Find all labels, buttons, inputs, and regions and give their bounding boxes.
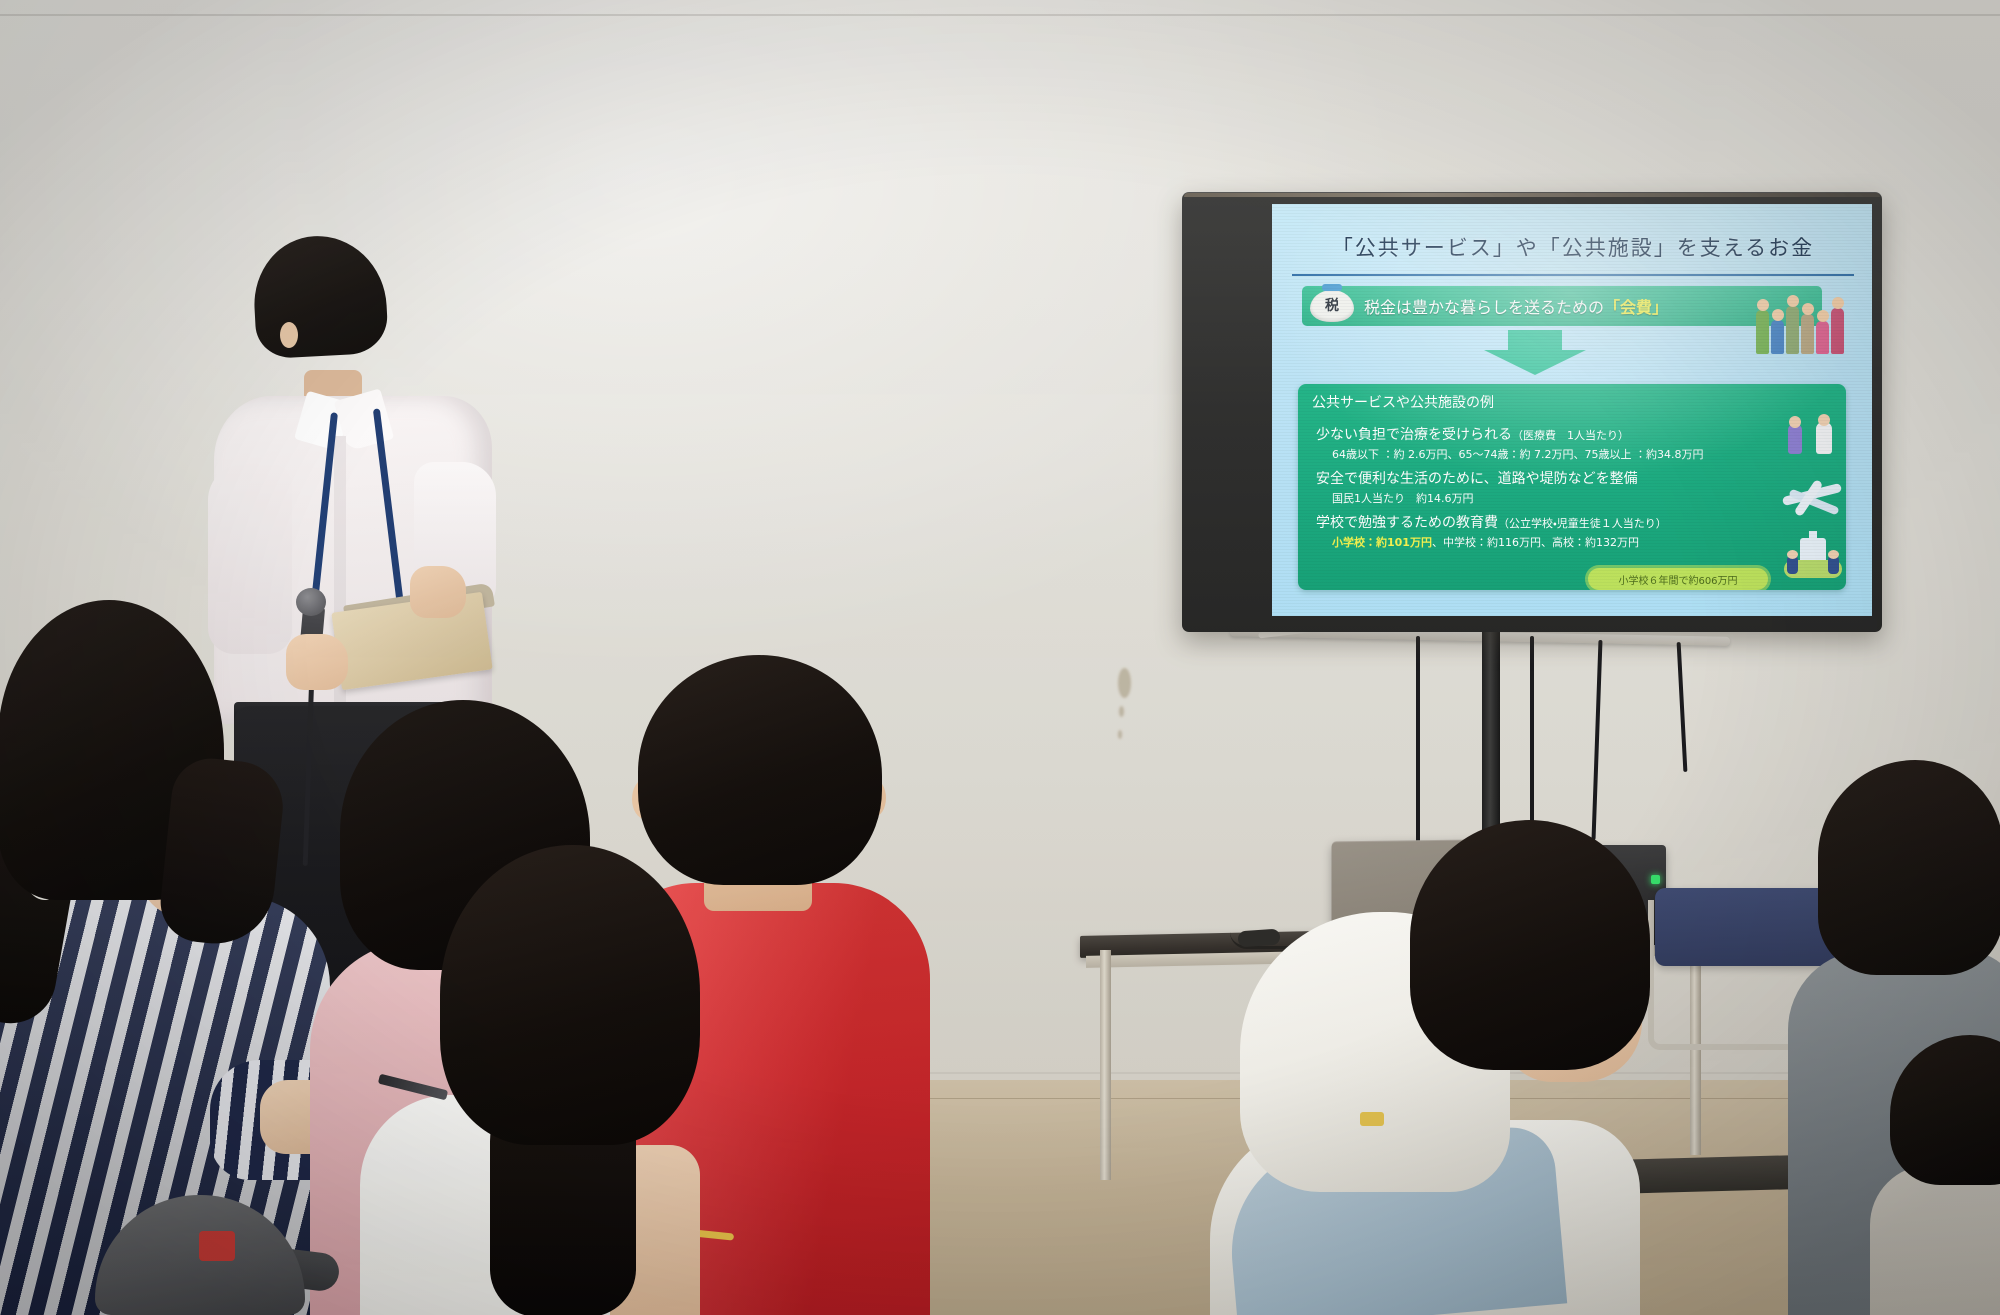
slide-title-rule — [1292, 274, 1854, 276]
item3-text: 学校で勉強するための教育費 — [1316, 515, 1498, 531]
wall-scuff-mark — [1118, 668, 1131, 698]
content-box-heading: 公共サービスや公共施設の例 — [1312, 392, 1494, 412]
wall-scuff-mark-small — [1119, 706, 1124, 717]
content-item-2-detail: 国民1人当たり 約14.6万円 — [1332, 490, 1474, 506]
presenter-hair — [251, 233, 389, 360]
monitor-top-highlight — [1184, 193, 1880, 197]
content-item-1-main: 少ない負担で治療を受けられる（医療費 1人当たり） — [1316, 424, 1629, 444]
student-far-right-lower — [1890, 1035, 2000, 1315]
family-clipart-icon — [1756, 282, 1866, 354]
content-item-3-detail: 小学校：約101万円、中学校：約116万円、高校：約132万円 — [1332, 534, 1639, 550]
student-boy-hoodie — [1240, 820, 1680, 1315]
student-hair — [1890, 1035, 2000, 1185]
money-bag-label: 税 — [1325, 299, 1339, 313]
wall-seam — [0, 14, 2000, 16]
family-figure — [1801, 314, 1814, 354]
banner-text-highlight: 「会費」 — [1604, 298, 1668, 317]
cap-emblem-icon — [199, 1231, 235, 1261]
slide-callout-text: 小学校６年間で約606万円 — [1618, 572, 1737, 587]
family-figure — [1786, 306, 1799, 354]
slide-banner-text: 税金は豊かな暮らしを送るための「会費」 — [1364, 294, 1668, 318]
content-item-3-main: 学校で勉強するための教育費（公立学校・児童生徒１人当たり） — [1316, 512, 1667, 532]
student-girl-white-shirt — [400, 845, 800, 1315]
slide-callout-badge: 小学校６年間で約606万円 — [1588, 568, 1768, 590]
student-with-cap — [95, 1195, 325, 1315]
hoodie-tab-detail — [1360, 1112, 1384, 1126]
classroom-photo: 「公共サービス」や「公共施設」を支えるお金 税 税金は豊かな暮らしを送るための「… — [0, 0, 2000, 1315]
family-figure — [1831, 308, 1844, 354]
item3-detail-highlight: 小学校：約101万円 — [1332, 536, 1432, 549]
slide-canvas: 「公共サービス」や「公共施設」を支えるお金 税 税金は豊かな暮らしを送るための「… — [1272, 204, 1872, 616]
hdmi-cable — [1530, 636, 1534, 848]
content-item-1-detail: 64歳以下 ：約 2.6万円、65〜74歳：約 7.2万円、75歳以上 ：約34… — [1332, 446, 1703, 462]
item3-detail-rest: 、中学校：約116万円、高校：約132万円 — [1432, 536, 1639, 549]
monitor-screen: 「公共サービス」や「公共施設」を支えるお金 税 税金は豊かな暮らしを送るための「… — [1272, 204, 1872, 616]
money-bag-icon: 税 — [1310, 290, 1354, 322]
presentation-monitor[interactable]: 「公共サービス」や「公共施設」を支えるお金 税 税金は豊かな暮らしを送るための「… — [1182, 192, 1882, 632]
slide-banner: 税 税金は豊かな暮らしを送るための「会費」 — [1302, 286, 1822, 326]
family-figure — [1756, 310, 1769, 354]
student-hair — [1818, 760, 2000, 975]
presenter-ear — [280, 322, 298, 348]
down-arrow-head — [1484, 350, 1586, 375]
family-figure — [1771, 320, 1784, 354]
doctor-patient-icon — [1786, 418, 1840, 460]
student-hair — [440, 845, 700, 1145]
banner-text-main: 税金は豊かな暮らしを送るための — [1364, 298, 1604, 317]
content-item-2-main: 安全で便利な生活のために、道路や堤防などを整備 — [1316, 468, 1638, 488]
presenter-hand-right — [410, 566, 466, 618]
wall-scuff-dot — [1118, 730, 1122, 739]
slide-content-box: 公共サービスや公共施設の例 少ない負担で治療を受けられる（医療費 1人当たり） … — [1298, 384, 1846, 590]
school-building-icon — [1782, 534, 1844, 582]
family-figure — [1816, 321, 1829, 354]
item1-text: 少ない負担で治療を受けられる — [1316, 427, 1512, 443]
down-arrow-stem — [1508, 330, 1562, 352]
student-hair — [1410, 820, 1650, 1070]
highway-interchange-icon — [1782, 476, 1844, 520]
item1-paren: （医療費 1人当たり） — [1512, 429, 1629, 442]
item3-paren: （公立学校・児童生徒１人当たり） — [1498, 517, 1667, 530]
slide-title: 「公共サービス」や「公共施設」を支えるお金 — [1290, 226, 1856, 268]
light-top — [1870, 1165, 2000, 1315]
table-leg — [1100, 950, 1111, 1180]
